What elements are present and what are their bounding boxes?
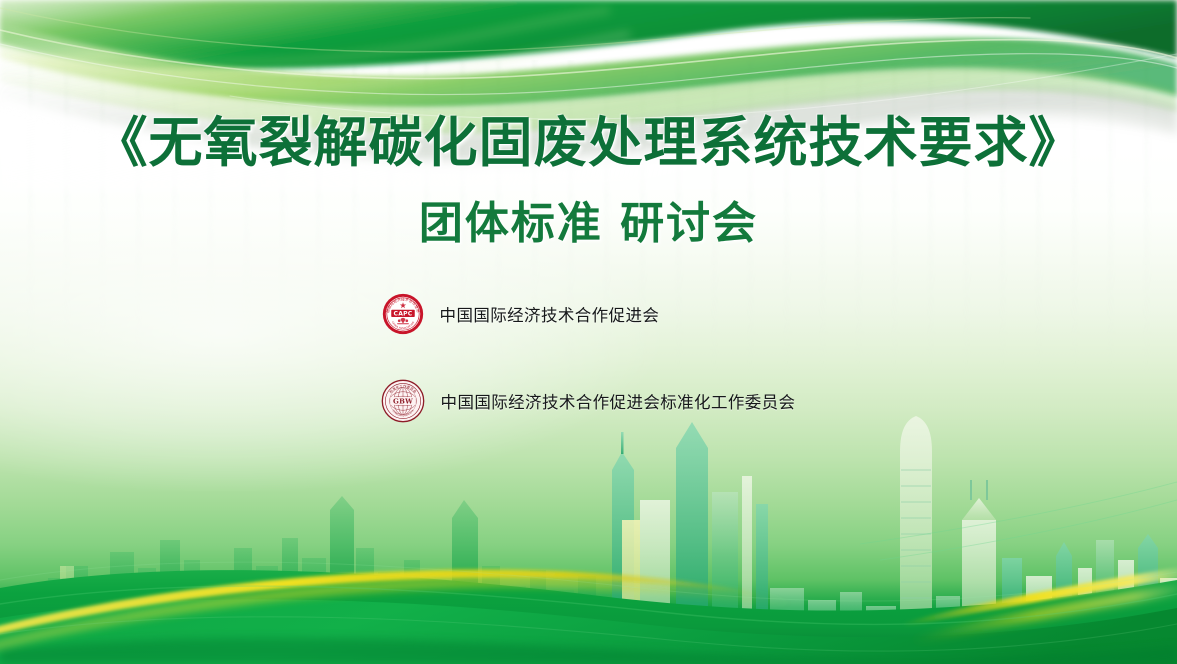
svg-text:GBW: GBW	[393, 397, 413, 405]
gbw-seal-logo: 标准化工作委员会 STANDARDIZATION	[381, 379, 425, 423]
organization-name-gbw: 中国国际经济技术合作促进会标准化工作委员会	[441, 389, 796, 413]
capc-seal-logo: 中国国际经济技术合作促进会 CHINA ASSOCIATION CAPC	[382, 293, 424, 335]
organization-row-gbw: 标准化工作委员会 STANDARDIZATION	[381, 379, 796, 423]
organization-list: 中国国际经济技术合作促进会 CHINA ASSOCIATION CAPC	[382, 293, 796, 423]
slide-content: 《无氧裂解碳化固废处理系统技术要求》 团体标准 研讨会	[0, 0, 1177, 664]
title-slide: 《无氧裂解碳化固废处理系统技术要求》 团体标准 研讨会	[0, 0, 1177, 664]
page-subtitle: 团体标准 研讨会	[419, 198, 758, 251]
page-title: 《无氧裂解碳化固废处理系统技术要求》	[94, 110, 1084, 176]
svg-text:CAPC: CAPC	[393, 310, 412, 317]
organization-row-capc: 中国国际经济技术合作促进会 CHINA ASSOCIATION CAPC	[382, 293, 660, 335]
organization-name-capc: 中国国际经济技术合作促进会	[440, 302, 660, 326]
